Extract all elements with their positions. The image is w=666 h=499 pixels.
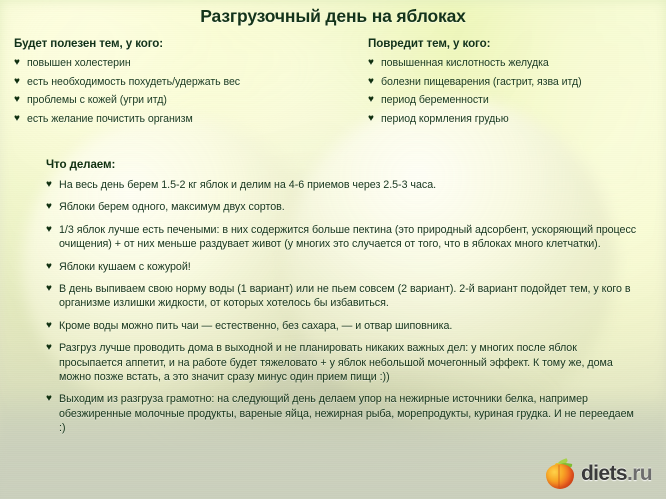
- list-item-label: проблемы с кожей (угри итд): [27, 94, 167, 106]
- list-item-label: повышенная кислотность желудка: [381, 57, 549, 69]
- apple-body: [546, 464, 574, 489]
- heart-icon: ♥: [368, 93, 374, 107]
- brand-name-tld: .ru: [627, 462, 652, 485]
- benefits-heading: Будет полезен тем, у кого:: [14, 37, 364, 50]
- heart-icon: ♥: [14, 93, 20, 107]
- howto-list: ♥ На весь день берем 1.5-2 кг яблок и де…: [46, 178, 638, 436]
- heart-icon: ♥: [14, 56, 20, 70]
- list-item: ♥ есть необходимость похудеть/удержать в…: [14, 76, 364, 90]
- list-item-label: Выходим из разгруза грамотно: на следующ…: [59, 393, 634, 434]
- list-item-label: Яблоки кушаем с кожурой!: [59, 261, 191, 273]
- list-item-label: есть желание почистить организм: [27, 113, 193, 125]
- list-item-label: 1/3 яблок лучше есть печеными: в них сод…: [59, 224, 636, 250]
- list-item: ♥ болезни пищеварения (гастрит, язва итд…: [368, 76, 660, 90]
- heart-icon: ♥: [46, 200, 52, 214]
- list-item: ♥ есть желание почистить организм: [14, 113, 364, 127]
- heart-icon: ♥: [46, 260, 52, 274]
- list-item: ♥ Кроме воды можно пить чаи — естественн…: [46, 319, 638, 333]
- list-item: ♥ 1/3 яблок лучше есть печеными: в них с…: [46, 223, 638, 252]
- benefits-column: Будет полезен тем, у кого: ♥ повышен хол…: [14, 37, 364, 131]
- howto-section: Что делаем: ♥ На весь день берем 1.5-2 к…: [46, 158, 638, 444]
- list-item-label: В день выпиваем свою норму воды (1 вариа…: [59, 283, 631, 309]
- brand-name-main: diets: [581, 462, 627, 485]
- brand-name: diets.ru: [581, 462, 652, 486]
- list-item-label: Разгруз лучше проводить дома в выходной …: [59, 342, 613, 383]
- list-item: ♥ В день выпиваем свою норму воды (1 вар…: [46, 282, 638, 311]
- list-item: ♥ повышен холестерин: [14, 57, 364, 71]
- heart-icon: ♥: [368, 75, 374, 89]
- heart-icon: ♥: [14, 75, 20, 89]
- heart-icon: ♥: [46, 178, 52, 192]
- heart-icon: ♥: [46, 319, 52, 333]
- heart-icon: ♥: [368, 112, 374, 126]
- list-item: ♥ Яблоки берем одного, максимум двух сор…: [46, 200, 638, 214]
- heart-icon: ♥: [46, 282, 52, 296]
- list-item-label: Кроме воды можно пить чаи — естественно,…: [59, 320, 452, 332]
- harms-list: ♥ повышенная кислотность желудка ♥ болез…: [368, 57, 660, 126]
- page-title: Разгрузочный день на яблоках: [0, 6, 666, 27]
- heart-icon: ♥: [14, 112, 20, 126]
- list-item: ♥ период кормления грудью: [368, 113, 660, 127]
- howto-heading: Что делаем:: [46, 158, 638, 171]
- heart-icon: ♥: [46, 392, 52, 406]
- list-item: ♥ Выходим из разгруза грамотно: на следу…: [46, 392, 638, 435]
- heart-icon: ♥: [368, 56, 374, 70]
- list-item-label: есть необходимость похудеть/удержать вес: [27, 76, 240, 88]
- list-item-label: период кормления грудью: [381, 113, 509, 125]
- list-item: ♥ На весь день берем 1.5-2 кг яблок и де…: [46, 178, 638, 192]
- list-item-label: повышен холестерин: [27, 57, 131, 69]
- list-item-label: период беременности: [381, 94, 489, 106]
- poster-canvas: Разгрузочный день на яблоках Будет полез…: [0, 0, 666, 499]
- harms-column: Повредит тем, у кого: ♥ повышенная кисло…: [368, 37, 660, 131]
- list-item: ♥ Разгруз лучше проводить дома в выходно…: [46, 341, 638, 384]
- heart-icon: ♥: [46, 341, 52, 355]
- list-item: ♥ Яблоки кушаем с кожурой!: [46, 260, 638, 274]
- list-item: ♥ повышенная кислотность желудка: [368, 57, 660, 71]
- list-item: ♥ период беременности: [368, 94, 660, 108]
- brand-logo[interactable]: diets.ru: [546, 459, 652, 489]
- list-item: ♥ проблемы с кожей (угри итд): [14, 94, 364, 108]
- harms-heading: Повредит тем, у кого:: [368, 37, 660, 50]
- list-item-label: болезни пищеварения (гастрит, язва итд): [381, 76, 582, 88]
- poster-content: Разгрузочный день на яблоках Будет полез…: [0, 0, 666, 499]
- list-item-label: Яблоки берем одного, максимум двух сорто…: [59, 201, 285, 213]
- heart-icon: ♥: [46, 223, 52, 237]
- apple-icon: [546, 459, 574, 489]
- list-item-label: На весь день берем 1.5-2 кг яблок и дели…: [59, 179, 436, 191]
- benefits-list: ♥ повышен холестерин ♥ есть необходимост…: [14, 57, 364, 126]
